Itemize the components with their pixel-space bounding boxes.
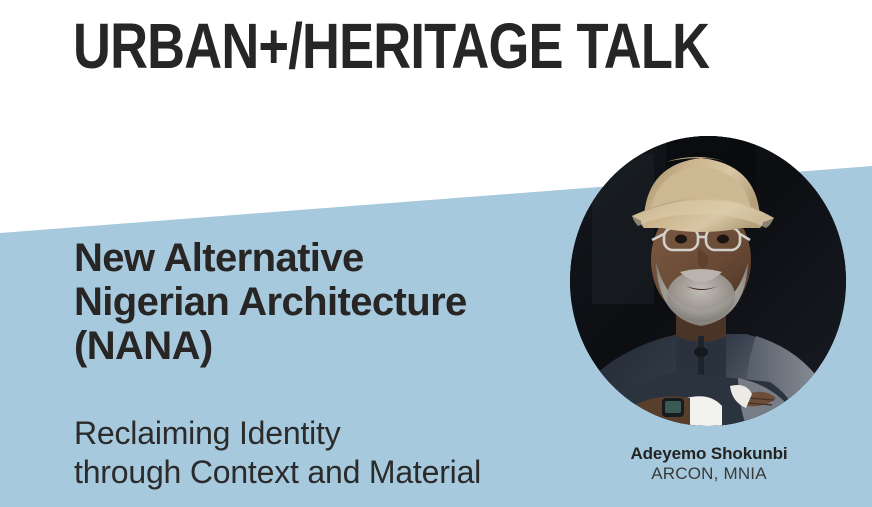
poster-subheadline: Reclaiming Identity through Context and … <box>74 414 594 492</box>
speaker-credentials: ARCON, MNIA <box>566 463 852 484</box>
speaker-name: Adeyemo Shokunbi <box>566 443 852 464</box>
portrait-photo-illustration <box>570 136 846 426</box>
speaker-portrait <box>570 136 846 426</box>
talk-poster: URBAN+/HERITAGE TALK New Alternative Nig… <box>0 0 872 507</box>
poster-headline: New Alternative Nigerian Architecture (N… <box>74 236 574 368</box>
poster-kicker-title: URBAN+/HERITAGE TALK <box>73 8 709 84</box>
